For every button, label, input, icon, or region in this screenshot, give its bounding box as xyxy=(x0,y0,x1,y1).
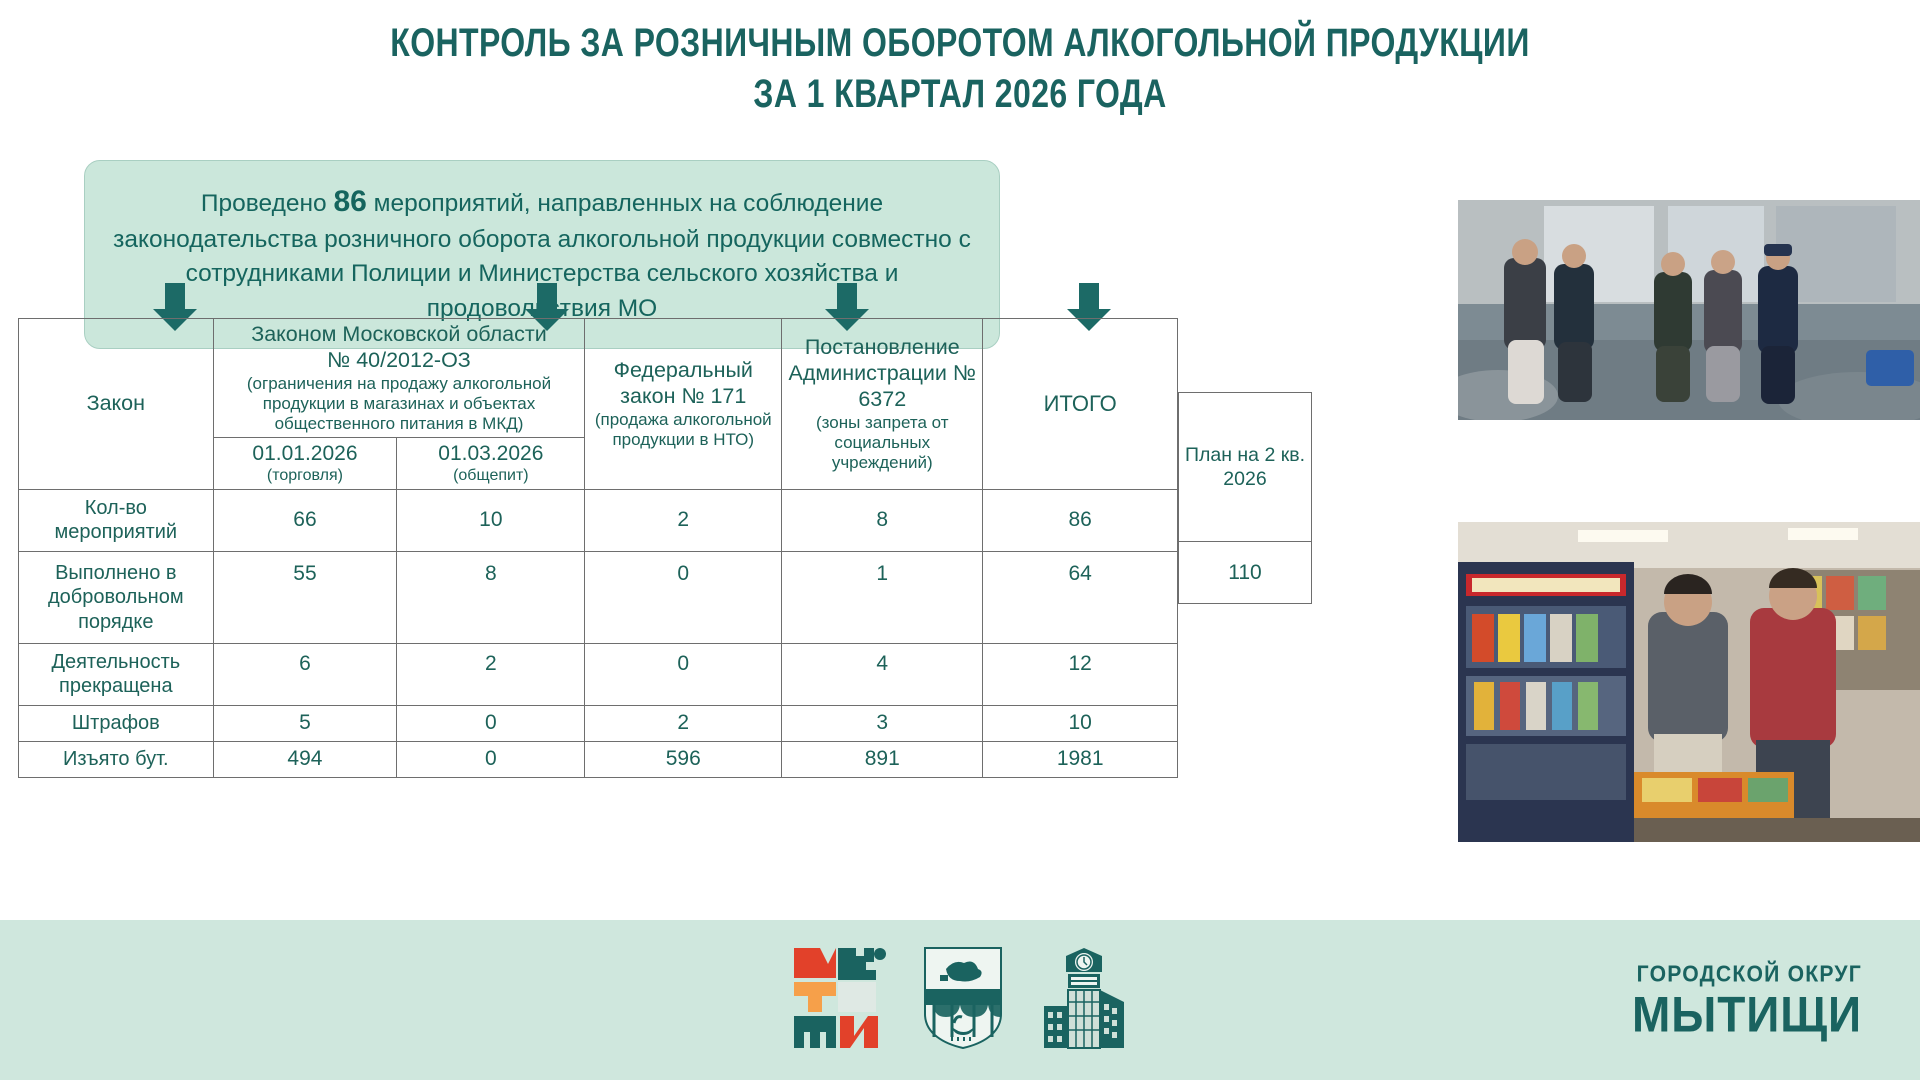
row-label: Изъято бут. xyxy=(19,741,214,777)
cell-total: 12 xyxy=(983,643,1178,705)
table-header-total: ИТОГО xyxy=(983,319,1178,490)
cell-fz: 0 xyxy=(585,643,782,705)
cell-total: 10 xyxy=(983,705,1178,741)
cell-mo-food: 10 xyxy=(397,489,585,551)
cell-fz: 596 xyxy=(585,741,782,777)
cell-mo-trade: 5 xyxy=(213,705,397,741)
cell-post: 8 xyxy=(782,489,983,551)
table-row: Изъято бут. 494 0 596 891 1981 xyxy=(19,741,1178,777)
row-label: Кол-во мероприятий xyxy=(19,489,214,551)
table-header-row-main: Закон Законом Московской области № 40/20… xyxy=(19,319,1178,438)
table-row: Выполнено в добровольном порядке 55 8 0 … xyxy=(19,551,1178,643)
cell-fz: 2 xyxy=(585,489,782,551)
cell-post: 4 xyxy=(782,643,983,705)
cell-mo-trade: 6 xyxy=(213,643,397,705)
cell-total: 64 xyxy=(983,551,1178,643)
cell-mo-trade: 494 xyxy=(213,741,397,777)
table-header-law-mo: Законом Московской области № 40/2012-ОЗ … xyxy=(213,319,585,438)
cell-mo-food: 0 xyxy=(397,705,585,741)
footer-logos xyxy=(792,945,1128,1056)
table-corner-label: Закон xyxy=(19,319,214,490)
footer-bar: ГОРОДСКОЙ ОКРУГ МЫТИЩИ xyxy=(0,920,1920,1080)
date-trade-value: 01.01.2026 xyxy=(218,441,393,467)
row-label: Выполнено в добровольном порядке xyxy=(19,551,214,643)
callout-text-before: Проведено xyxy=(201,190,334,217)
decree-title: Постановление Администрации № 6372 xyxy=(786,335,978,412)
cell-mo-trade: 66 xyxy=(213,489,397,551)
table-row: Кол-во мероприятий 66 10 2 8 86 xyxy=(19,489,1178,551)
date-catering-value: 01.03.2026 xyxy=(401,441,580,467)
cell-total: 1981 xyxy=(983,741,1178,777)
cell-total: 86 xyxy=(983,489,1178,551)
photo-inspection-outdoor xyxy=(1458,200,1920,420)
cell-mo-food: 0 xyxy=(397,741,585,777)
table-header-date-trade: 01.01.2026 (торговля) xyxy=(213,437,397,489)
city-tower-logo xyxy=(1038,946,1128,1055)
federal-law-note: (продажа алкогольной продукции в НТО) xyxy=(589,410,777,450)
cell-post: 3 xyxy=(782,705,983,741)
brand-top-label: ГОРОДСКОЙ ОКРУГ xyxy=(1632,961,1862,988)
cell-post: 891 xyxy=(782,741,983,777)
page-title-line-1: КОНТРОЛЬ ЗА РОЗНИЧНЫМ ОБОРОТОМ АЛКОГОЛЬН… xyxy=(192,18,1728,69)
row-label: Деятельность прекращена xyxy=(19,643,214,705)
statistics-table: Закон Законом Московской области № 40/20… xyxy=(18,318,1178,778)
table-header-federal-law: Федеральный закон № 171 (продажа алкогол… xyxy=(585,319,782,490)
callout-count: 86 xyxy=(333,185,366,218)
cell-mo-food: 2 xyxy=(397,643,585,705)
cell-post: 1 xyxy=(782,551,983,643)
plan-value-cell: 110 xyxy=(1178,542,1312,604)
table-row: Деятельность прекращена 6 2 0 4 12 xyxy=(19,643,1178,705)
decree-note: (зоны запрета от социальных учреждений) xyxy=(786,413,978,473)
date-trade-note: (торговля) xyxy=(218,466,393,486)
cell-fz: 2 xyxy=(585,705,782,741)
cell-mo-food: 8 xyxy=(397,551,585,643)
statistics-table-wrapper: Закон Законом Московской области № 40/20… xyxy=(18,318,1178,778)
table-header-date-catering: 01.03.2026 (общепит) xyxy=(397,437,585,489)
page-title: КОНТРОЛЬ ЗА РОЗНИЧНЫМ ОБОРОТОМ АЛКОГОЛЬН… xyxy=(0,0,1920,120)
federal-law-title: Федеральный закон № 171 xyxy=(589,358,777,410)
row-label: Штрафов xyxy=(19,705,214,741)
law-mo-note: (ограничения на продажу алкогольной прод… xyxy=(218,374,581,434)
date-catering-note: (общепит) xyxy=(401,466,580,486)
brand-block: ГОРОДСКОЙ ОКРУГ МЫТИЩИ xyxy=(1612,961,1862,1040)
page-title-line-2: ЗА 1 КВАРТАЛ 2026 ГОДА xyxy=(192,69,1728,120)
table-row: Штрафов 5 0 2 3 10 xyxy=(19,705,1178,741)
cell-fz: 0 xyxy=(585,551,782,643)
brand-main-label: МЫТИЩИ xyxy=(1632,990,1862,1040)
cell-mo-trade: 55 xyxy=(213,551,397,643)
law-mo-title-2: № 40/2012-ОЗ xyxy=(218,348,581,374)
table-header-decree: Постановление Администрации № 6372 (зоны… xyxy=(782,319,983,490)
plan-header-cell: План на 2 кв. 2026 xyxy=(1178,392,1312,542)
law-mo-title-1: Законом Московской области xyxy=(218,322,581,348)
mytishchi-wordmark-logo xyxy=(792,946,888,1055)
coat-of-arms-logo xyxy=(922,945,1004,1056)
photo-inspection-store xyxy=(1458,522,1920,842)
